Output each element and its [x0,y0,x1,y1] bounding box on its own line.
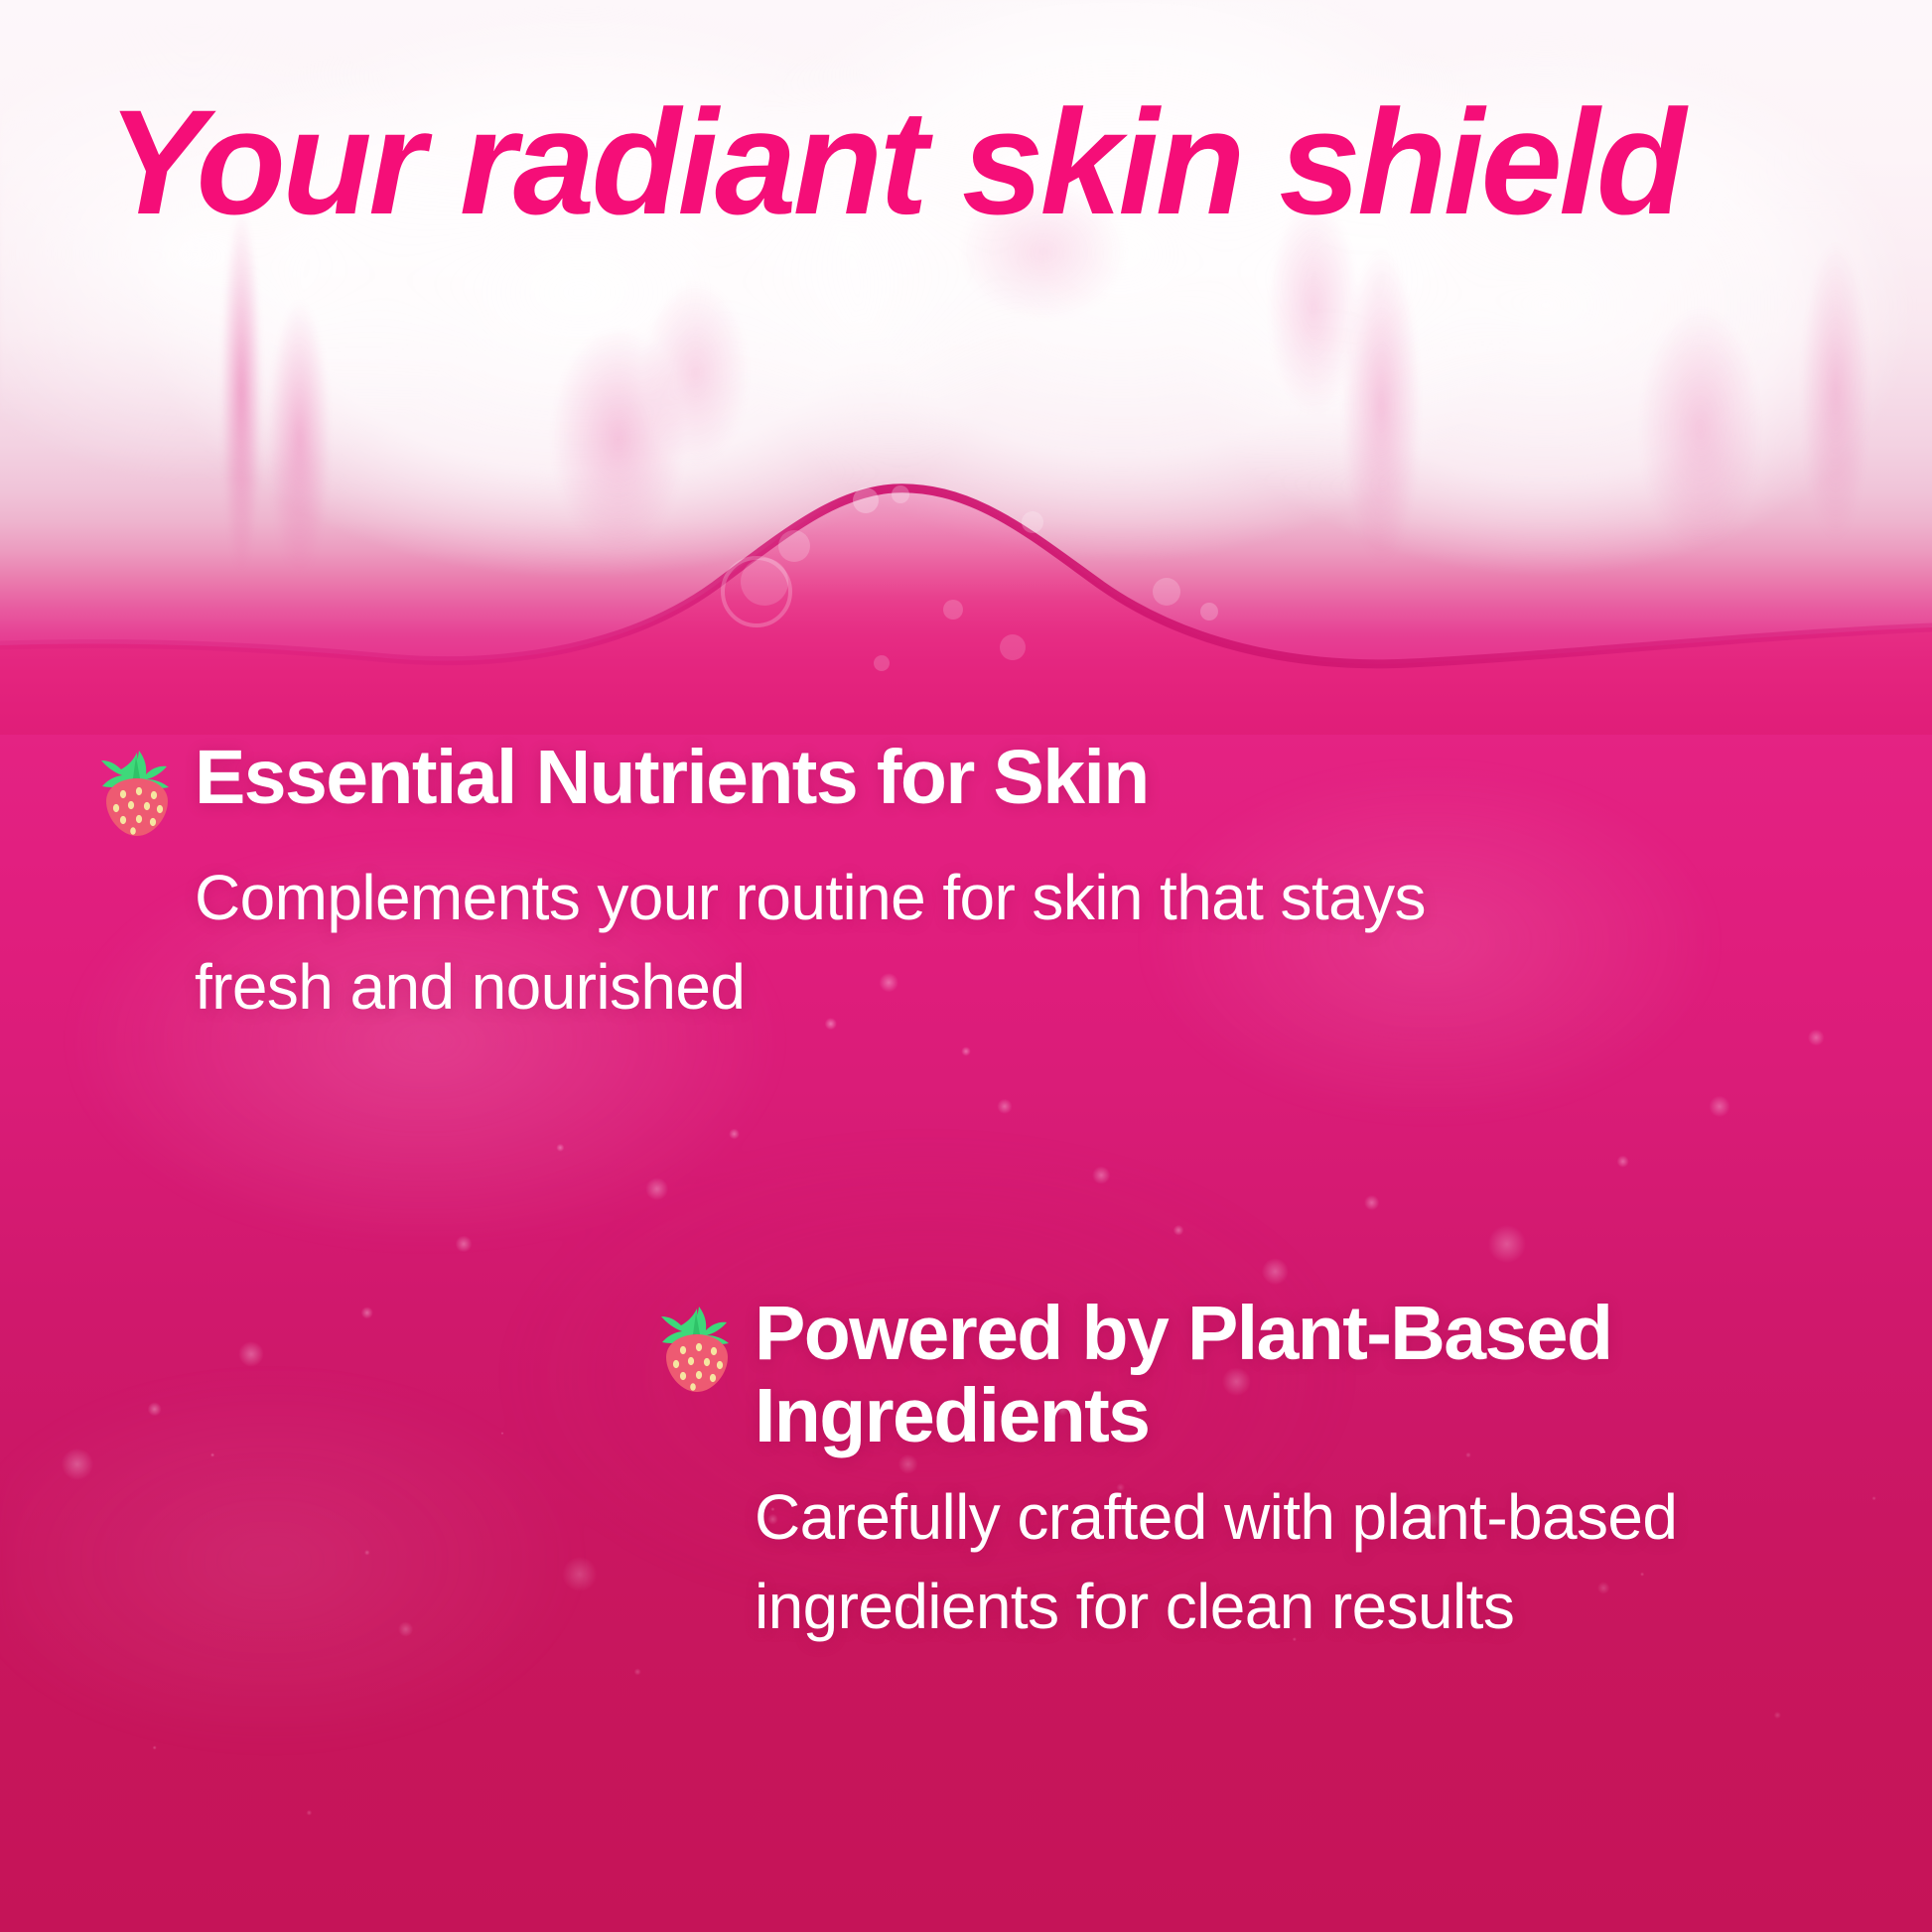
feature-heading-row: Powered by Plant-Based Ingredients [655,1293,1906,1457]
feature-title: Powered by Plant-Based Ingredients [755,1293,1906,1457]
strawberry-icon [655,1301,739,1396]
strawberry-icon [95,745,179,840]
promo-poster: Your radiant skin shield [0,0,1932,1932]
feature-title: Essential Nutrients for Skin [195,737,1505,819]
feature-body: Complements your routine for skin that s… [195,854,1505,1032]
feature-body: Carefully crafted with plant-based ingre… [755,1473,1906,1651]
poster-content: Your radiant skin shield [0,0,1932,1932]
feature-heading-row: Essential Nutrients for Skin [95,737,1505,840]
feature-block-plant-based: Powered by Plant-Based Ingredients Caref… [655,1293,1906,1652]
page-title: Your radiant skin shield [107,87,1809,236]
feature-block-essential-nutrients: Essential Nutrients for Skin Complements… [95,737,1505,1032]
